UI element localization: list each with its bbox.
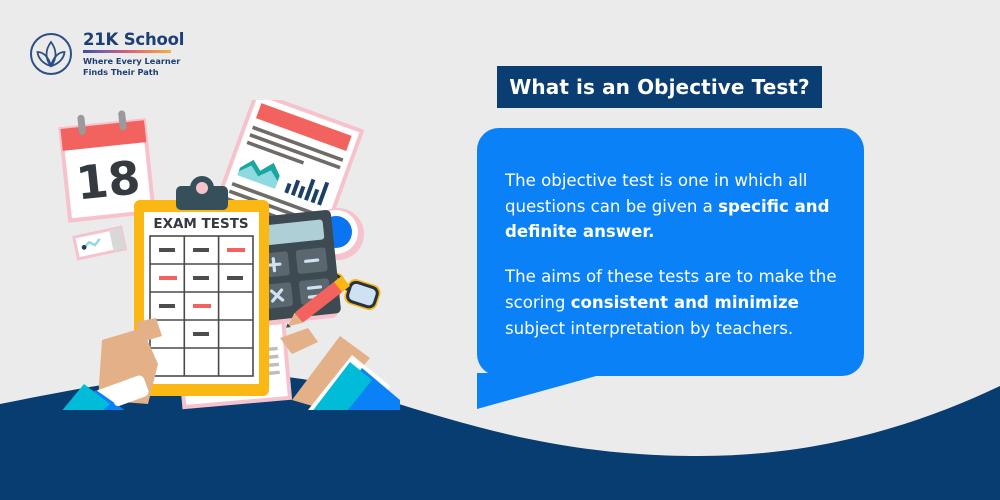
page-title-bar: What is an Objective Test?	[497, 66, 822, 108]
svg-text:18: 18	[73, 150, 142, 210]
exam-desk-flatlay-illustration: 18	[40, 100, 400, 410]
logo-title: 21K School	[83, 31, 184, 48]
bubble-plain-text: subject interpretation by teachers.	[505, 319, 793, 338]
exam-ticket-card	[74, 227, 126, 258]
logo-text-block: 21K School Where Every Learner Finds The…	[83, 30, 184, 77]
bubble-paragraph-2: The aims of these tests are to make the …	[505, 264, 857, 341]
logo-gradient-rule	[83, 50, 171, 53]
left-hand	[46, 318, 162, 410]
bubble-emphasis-text: consistent and minimize	[571, 293, 799, 312]
svg-text:EXAM TESTS: EXAM TESTS	[153, 216, 248, 232]
logo-tagline-line-2: Finds Their Path	[83, 67, 159, 77]
lotus-circle-logo	[28, 31, 74, 77]
speech-bubble-tail	[477, 373, 607, 409]
brand-logo[interactable]: 21K School Where Every Learner Finds The…	[28, 30, 184, 77]
logo-tagline-line-1: Where Every Learner	[83, 56, 180, 66]
bubble-paragraph-1: The objective test is one in which all q…	[505, 168, 857, 245]
logo-tagline: Where Every Learner Finds Their Path	[83, 56, 184, 78]
speech-bubble-body: The objective test is one in which all q…	[505, 168, 857, 341]
infographic-canvas: 18	[0, 0, 1000, 500]
page-title: What is an Objective Test?	[509, 75, 810, 99]
